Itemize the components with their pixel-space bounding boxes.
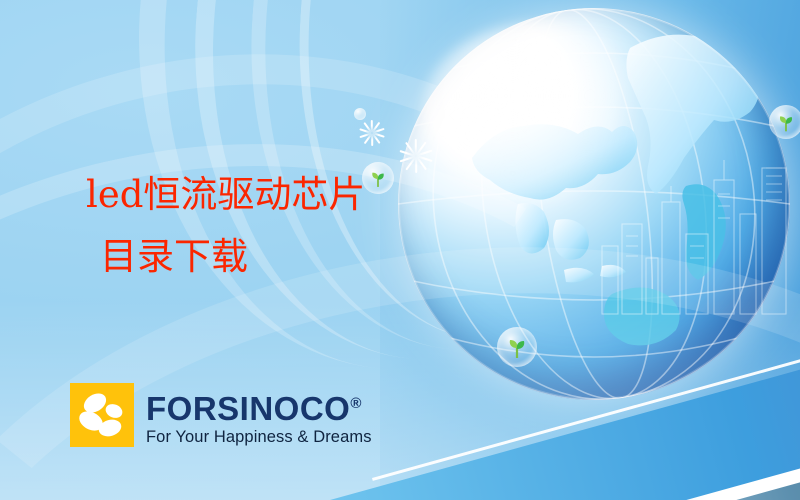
headline-line-1: led恒流驱动芯片 [86, 164, 365, 226]
company-logo: FORSINOCO® For Your Happiness & Dreams [70, 383, 372, 447]
headline-text: led恒流驱动芯片 目录下载 [86, 164, 365, 288]
logo-mark [70, 383, 134, 447]
bubble-sprout-4-icon [769, 105, 800, 139]
bubble-sprout-2-icon [362, 162, 394, 194]
sparkle-1-icon [359, 120, 385, 146]
sparkle-2-icon [399, 139, 433, 173]
trademark-symbol: ® [350, 395, 362, 412]
green-sprout-icon [776, 113, 796, 133]
brand-tagline: For Your Happiness & Dreams [146, 427, 372, 447]
banner-image: led恒流驱动芯片 目录下载 FORSINOCO® For Your Happi… [0, 0, 800, 500]
logo-text-block: FORSINOCO® For Your Happiness & Dreams [146, 383, 372, 447]
green-sprout-icon [369, 169, 388, 188]
bubble-sprout-1-icon [354, 108, 366, 120]
headline-line-2: 目录下载 [86, 226, 365, 288]
pinwheel-flower-icon [70, 383, 134, 447]
green-sprout-icon [505, 336, 529, 360]
city-skyline-icon [590, 150, 800, 315]
brand-name: FORSINOCO® [146, 387, 372, 426]
brand-word: FORSINOCO [146, 390, 350, 427]
bubble-sprout-3-icon [497, 327, 537, 367]
